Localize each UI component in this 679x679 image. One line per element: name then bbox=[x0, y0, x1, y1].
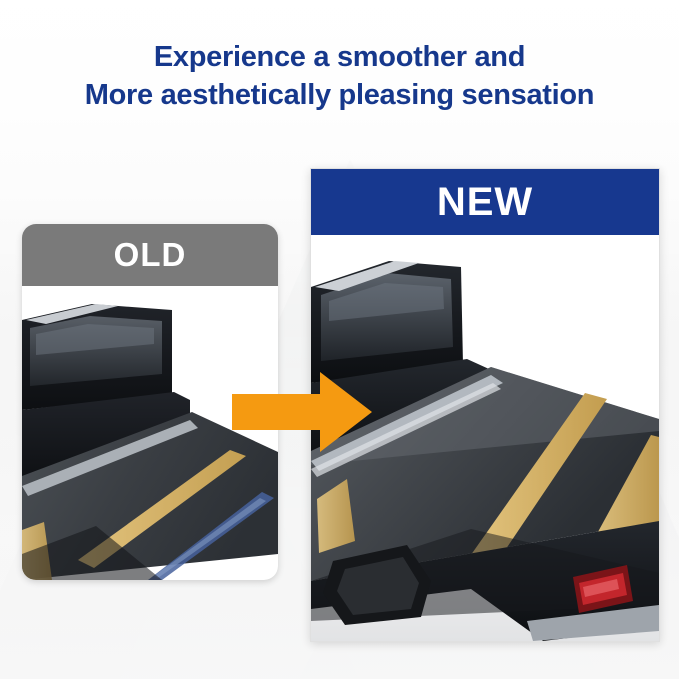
headline: Experience a smoother and More aesthetic… bbox=[0, 38, 679, 114]
headline-line-2: More aesthetically pleasing sensation bbox=[0, 76, 679, 114]
poster-image: Experience a smoother and More aesthetic… bbox=[0, 0, 679, 679]
right-arrow-icon bbox=[228, 368, 376, 456]
arrow-container bbox=[228, 368, 376, 456]
headline-line-1: Experience a smoother and bbox=[0, 38, 679, 76]
new-label-text: NEW bbox=[437, 180, 533, 225]
new-label-bar: NEW bbox=[311, 169, 659, 235]
old-label-bar: OLD bbox=[22, 224, 278, 286]
old-label-text: OLD bbox=[114, 236, 187, 274]
